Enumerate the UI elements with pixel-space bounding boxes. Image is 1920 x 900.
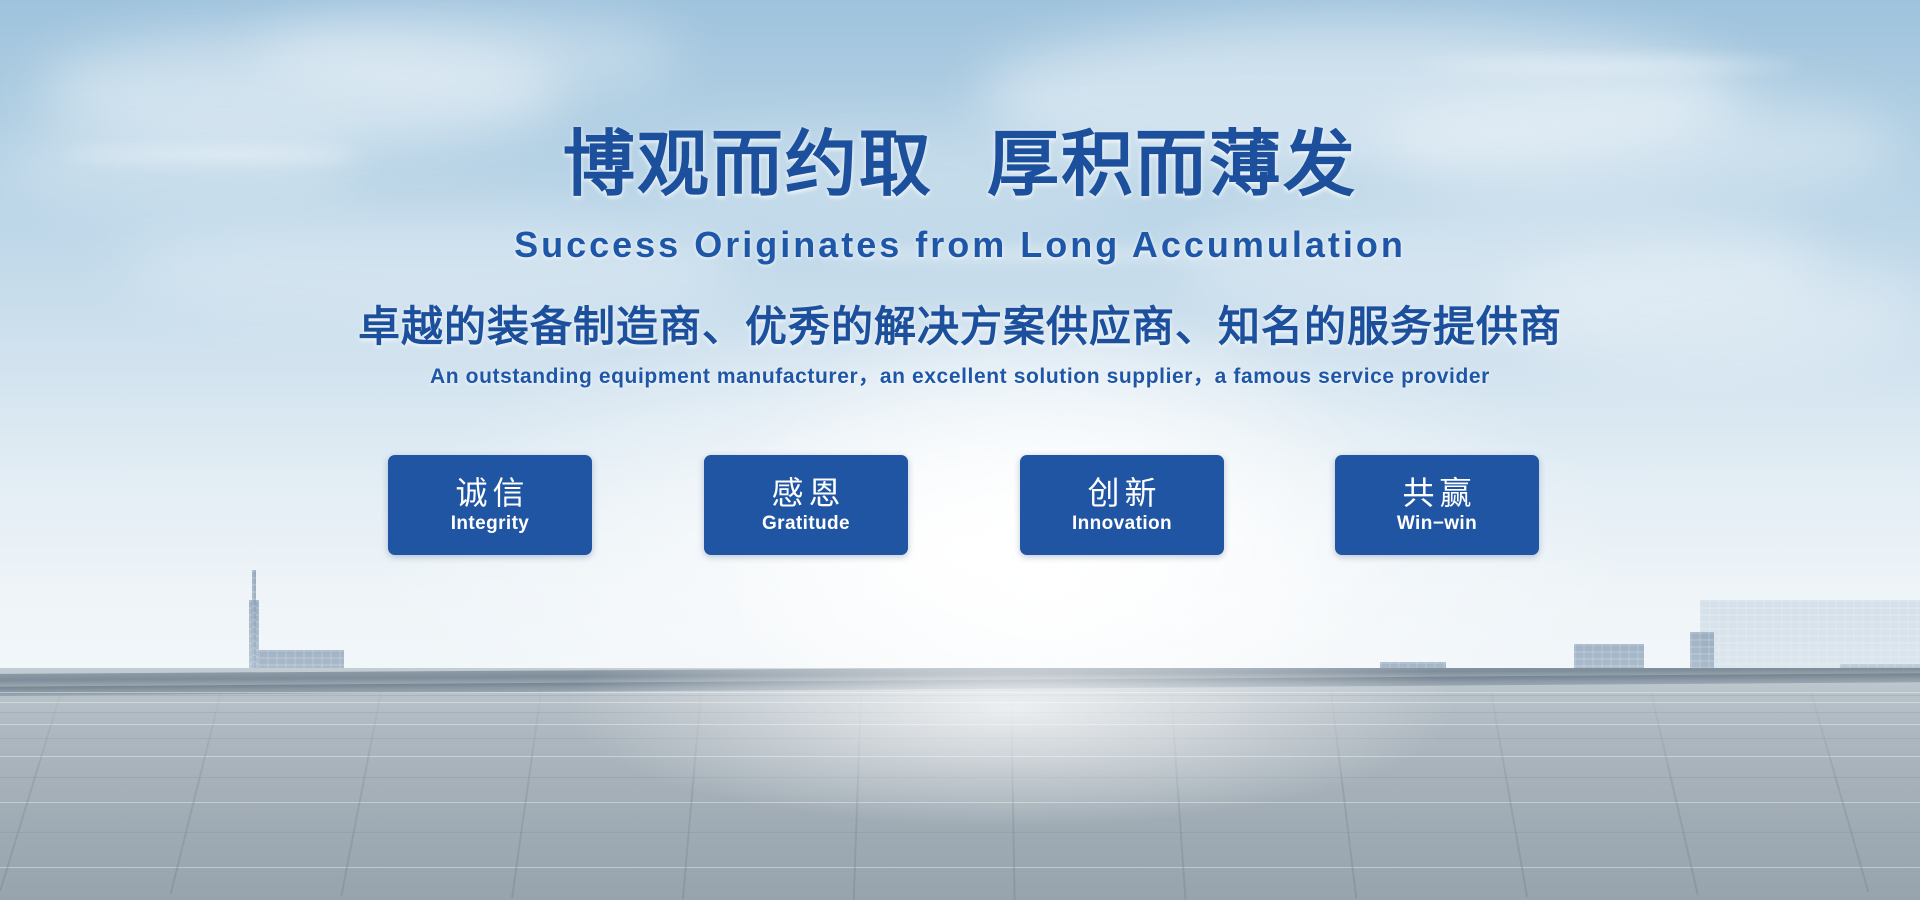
- tagline-english: An outstanding equipment manufacturer，an…: [0, 366, 1920, 387]
- page-title-english: Success Originates from Long Accumulatio…: [0, 227, 1920, 263]
- banner-content: 博观而约取 厚积而薄发 Success Originates from Long…: [0, 0, 1920, 900]
- value-card-label-cn: 共赢: [1397, 477, 1476, 511]
- hero-banner: 博观而约取 厚积而薄发 Success Originates from Long…: [0, 0, 1920, 900]
- page-title: 博观而约取 厚积而薄发: [0, 128, 1920, 200]
- value-card-gratitude[interactable]: 感恩 Gratitude: [704, 455, 908, 555]
- value-card-integrity[interactable]: 诚信 Integrity: [388, 455, 592, 555]
- value-card-label-cn: 感恩: [766, 477, 845, 511]
- value-card-label-en: Integrity: [451, 514, 530, 533]
- value-card-win-win[interactable]: 共赢 Win−win: [1335, 455, 1539, 555]
- tagline: 卓越的装备制造商、优秀的解决方案供应商、知名的服务提供商: [0, 306, 1920, 348]
- value-card-label-cn: 创新: [1082, 477, 1161, 511]
- value-card-label-en: Gratitude: [762, 514, 850, 533]
- value-card-innovation[interactable]: 创新 Innovation: [1020, 455, 1224, 555]
- value-card-label-en: Innovation: [1072, 514, 1172, 533]
- value-card-label-cn: 诚信: [450, 477, 529, 511]
- core-values-card-list: 诚信 Integrity 感恩 Gratitude 创新 Innovation …: [388, 455, 1548, 555]
- value-card-label-en: Win−win: [1397, 514, 1477, 533]
